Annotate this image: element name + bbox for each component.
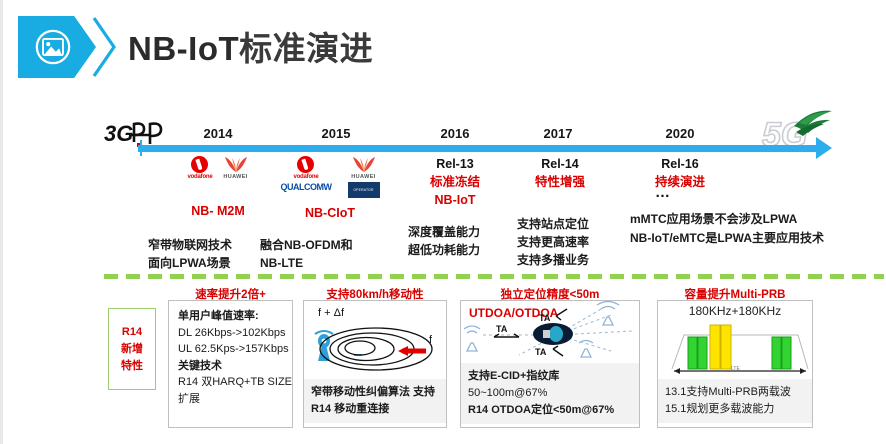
timeline-column-2020: Rel-16 持续演进 [620, 156, 740, 191]
capacity-caption-1: 15.1规划更多载波能力 [665, 401, 805, 418]
capacity-caption-0: 13.1支持Multi-PRB两载波 [665, 384, 805, 401]
timeline-column-2016: Rel-13 标准冻结 NB-IoT 深度覆盖能力 超低功耗能力 [395, 156, 515, 259]
qualcomm-logo: QUALCOMW [281, 182, 332, 192]
timeline-column-2017: Rel-14 特性增强 支持站点定位 支持更高速率 支持多播业务 [500, 156, 620, 269]
mobility-diagram: f + Δf f [304, 301, 446, 379]
timeline-year-2020: 2020 [640, 126, 720, 141]
timeline-red-2015-0: NB-CIoT [250, 204, 410, 222]
ta-label-top: TA [539, 313, 551, 323]
panel-positioning: UTDOA/OTDOA [460, 300, 640, 428]
timeline-logos-2015: vodafone QUALCOMW HUAWEI OPERAT [250, 156, 410, 198]
ta-label-left: TA [496, 324, 508, 334]
huawei-logo: HUAWEI [223, 156, 249, 180]
page-title: NB-IoT标准演进 [128, 22, 373, 70]
panel-rate-line-2: UL 62.5Kps->157Kbps [178, 341, 283, 358]
svg-text:3G: 3G [104, 121, 133, 146]
timeline-red-2020-0: 持续演进 [620, 173, 740, 191]
panel-rate-line-3: 关键技术 [178, 358, 283, 375]
timeline-release-2020: Rel-16 [620, 156, 740, 173]
timeline-red-2017-0: 特性增强 [500, 173, 620, 191]
page-title-cn: 标准演进 [239, 30, 373, 67]
positioning-caption: 支持E-CID+指纹库 50~100m@67% R14 OTDOA定位<50m@… [461, 363, 639, 424]
panel-rate-line-5: 扩展 [178, 391, 283, 408]
header-chevron-icon [92, 16, 118, 78]
vodafone-logo: vodafone [187, 156, 212, 180]
panel-mobility: f + Δf f [303, 300, 447, 428]
timeline-desc-2016-0: 深度覆盖能力 [408, 223, 515, 241]
panel-capacity: 180KHz+180KHz LTE 13.1支持Multi [657, 300, 813, 428]
feature-panels: R14 新增 特性 速率提升2倍+ 单用户峰值速率: DL 26Kbps->10… [0, 286, 886, 444]
timeline-year-2017: 2017 [518, 126, 598, 141]
timeline-desc-2015-1: NB-LTE [260, 254, 410, 272]
slide-root: NB-IoT标准演进 3G 5G 2014 2015 2016 2017 202… [0, 0, 886, 444]
timeline-arrow-head [816, 137, 832, 159]
timeline-red-2016-0: 标准冻结 [395, 173, 515, 191]
timeline-column-2015: vodafone QUALCOMW HUAWEI OPERAT [250, 156, 410, 272]
panel-rate-line-1: DL 26Kbps->102Kbps [178, 325, 283, 342]
timeline-desc-2017-0: 支持站点定位 [517, 215, 620, 233]
timeline-red-2016-1: NB-IoT [395, 191, 515, 209]
prb-axis-label: LTE [731, 366, 740, 372]
r14-badge: R14 新增 特性 [108, 308, 156, 390]
timeline-desc-2016-1: 超低功耗能力 [408, 241, 515, 259]
timeline-start-tick [140, 140, 142, 156]
slide-header: NB-IoT标准演进 [0, 16, 886, 78]
timeline-desc-2017-2: 支持多播业务 [517, 251, 620, 269]
green-dashed-divider [104, 274, 884, 279]
timeline-year-2015: 2015 [296, 126, 376, 141]
timeline-year-2016: 2016 [415, 126, 495, 141]
timeline-desc-2015-0: 融合NB-OFDM和 [260, 236, 410, 254]
timeline-desc-2020-1: NB-IoT/eMTC是LPWA主要应用技术 [630, 229, 824, 248]
vodafone-logo: vodafone [293, 156, 318, 180]
page-title-en: NB-IoT [128, 30, 239, 67]
r14-badge-line-2: 特性 [121, 358, 143, 375]
mobility-caption-0: 窄带移动性纠偏算法 支持 [311, 384, 439, 401]
timeline: 3G 5G 2014 2015 2016 2017 2020 vodafone [0, 104, 886, 264]
timeline-year-2014: 2014 [178, 126, 258, 141]
mobility-caption-1: R14 移动重连接 [311, 401, 439, 418]
timeline-desc-2020-0: mMTC应用场景不会涉及LPWA [630, 210, 824, 229]
r14-badge-line-0: R14 [122, 324, 142, 341]
prb-spectrum-chart: 180KHz+180KHz LTE [658, 301, 812, 379]
positioning-diagram-icon: UTDOA/OTDOA [461, 301, 639, 363]
timeline-release-2016: Rel-13 [395, 156, 515, 173]
mobility-caption: 窄带移动性纠偏算法 支持 R14 移动重连接 [304, 379, 446, 423]
timeline-release-2017: Rel-14 [500, 156, 620, 173]
positioning-caption-2: R14 OTDOA定位<50m@67% [468, 402, 632, 419]
positioning-caption-1: 50~100m@67% [468, 385, 632, 402]
timeline-bar [138, 145, 818, 152]
huawei-logo: HUAWEI [351, 156, 377, 180]
capacity-caption: 13.1支持Multi-PRB两载波 15.1规划更多载波能力 [658, 379, 812, 423]
panel-rate: 单用户峰值速率: DL 26Kbps->102Kbps UL 62.5Kps->… [168, 300, 293, 428]
panel-rate-line-4: R14 双HARQ+TB SIZE [178, 374, 283, 391]
panel-rate-line-0: 单用户峰值速率: [178, 308, 283, 325]
timeline-desc-2017-1: 支持更高速率 [517, 233, 620, 251]
positioning-caption-0: 支持E-CID+指纹库 [468, 368, 632, 385]
image-picture-icon [34, 28, 72, 66]
operator-blue-logo: OPERATOR [348, 182, 380, 198]
r14-badge-line-1: 新增 [121, 341, 143, 358]
ta-label-bottom: TA [535, 347, 547, 357]
